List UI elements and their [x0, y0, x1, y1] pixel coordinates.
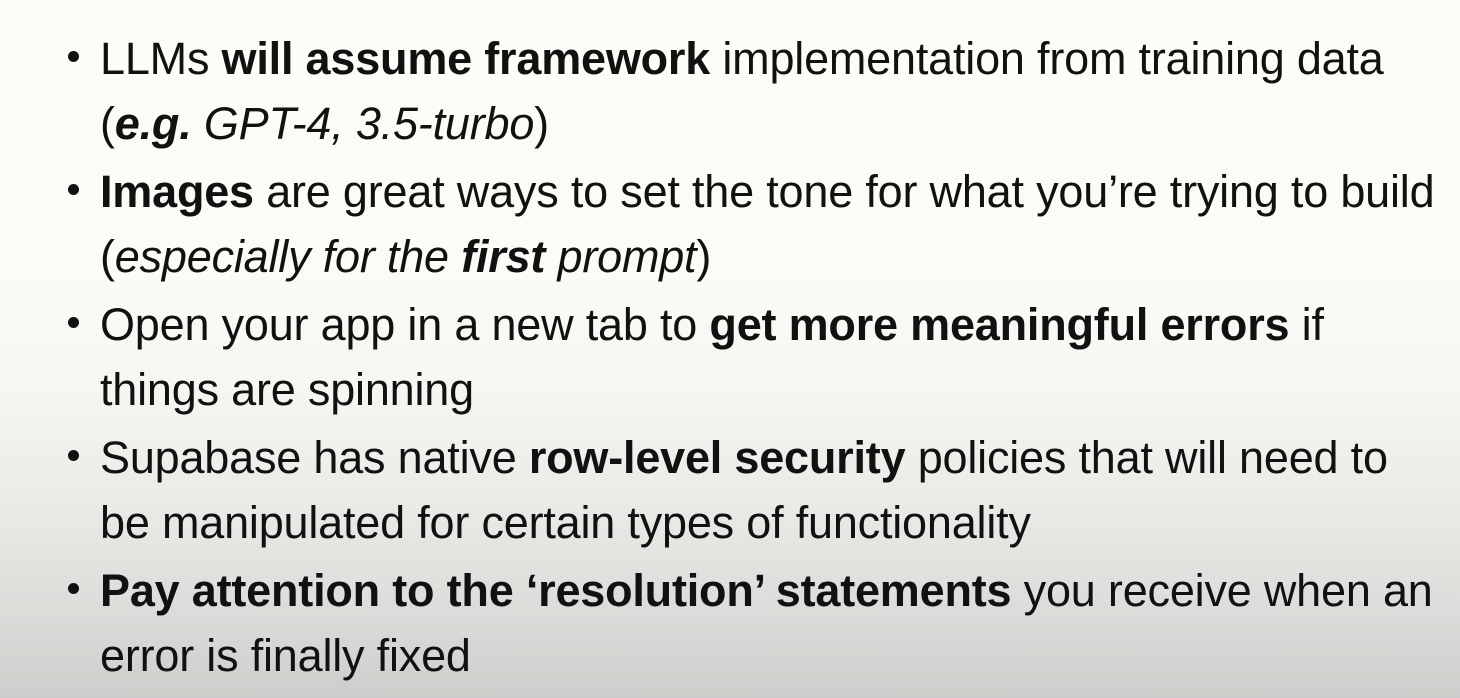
- list-item: LLMs will assume framework implementatio…: [56, 26, 1442, 156]
- bullet-text: LLMs will assume framework implementatio…: [100, 26, 1442, 156]
- bullet-point-icon: [68, 450, 79, 461]
- list-item: Open your app in a new tab to get more m…: [56, 292, 1442, 422]
- list-item: Pay attention to the ‘resolution’ statem…: [56, 558, 1442, 688]
- list-item: Supabase has native row-level security p…: [56, 425, 1442, 555]
- bullet-point-icon: [68, 317, 79, 328]
- bullet-list: LLMs will assume framework implementatio…: [56, 26, 1442, 688]
- bullet-text: Pay attention to the ‘resolution’ statem…: [100, 558, 1442, 688]
- bullet-text: Open your app in a new tab to get more m…: [100, 292, 1442, 422]
- bullet-point-icon: [68, 51, 79, 62]
- bullet-point-icon: [68, 583, 79, 594]
- bullet-text: Supabase has native row-level security p…: [100, 425, 1442, 555]
- bullet-point-icon: [68, 184, 79, 195]
- slide-canvas: LLMs will assume framework implementatio…: [0, 0, 1460, 698]
- bullet-text: Images are great ways to set the tone fo…: [100, 159, 1442, 289]
- list-item: Images are great ways to set the tone fo…: [56, 159, 1442, 289]
